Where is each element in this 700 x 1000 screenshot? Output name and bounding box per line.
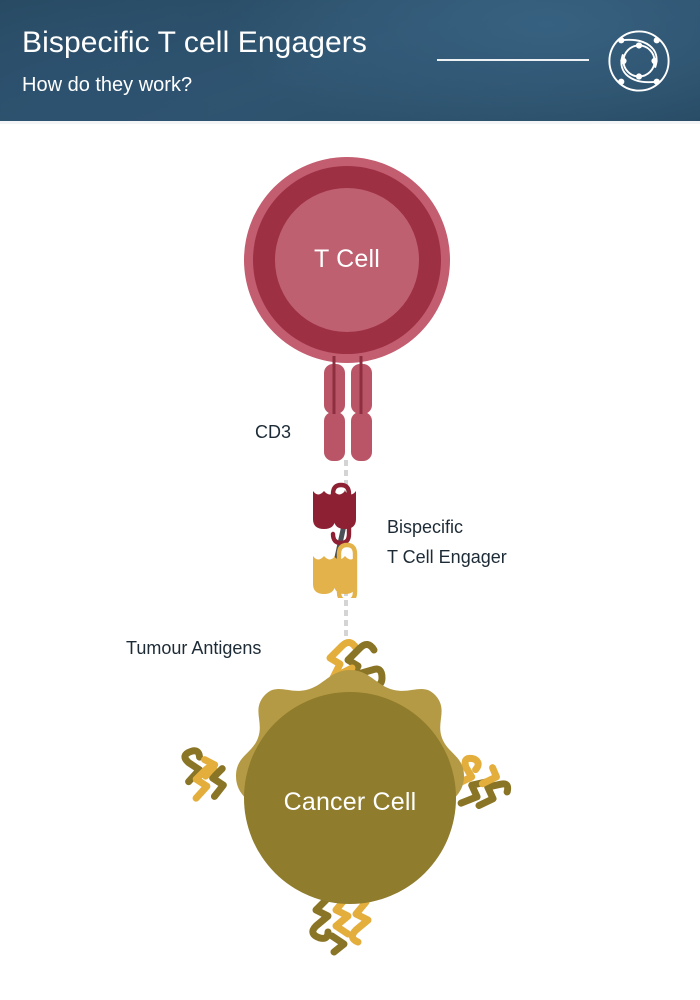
bispecific-engager-icon xyxy=(312,476,390,598)
t-cell-label: T Cell xyxy=(244,245,450,274)
page-header: Bispecific T cell Engagers How do they w… xyxy=(0,0,700,124)
page-subtitle: How do they work? xyxy=(22,74,192,97)
network-circle-logo-icon xyxy=(602,24,676,98)
cancer-cell-graphic xyxy=(176,632,524,972)
cd3-receptor-icon xyxy=(322,356,374,462)
title-rule-divider xyxy=(437,59,589,61)
diagram-stage: T Cell CD3 xyxy=(0,124,700,1000)
page-title: Bispecific T cell Engagers xyxy=(22,26,367,60)
t-cell-graphic: T Cell xyxy=(244,157,450,363)
bispecific-engager-label-line1: Bispecific xyxy=(387,512,507,542)
cd3-label: CD3 xyxy=(255,422,291,443)
bispecific-engager-label-line2: T Cell Engager xyxy=(387,542,507,572)
bispecific-engager-label: Bispecific T Cell Engager xyxy=(387,512,507,572)
